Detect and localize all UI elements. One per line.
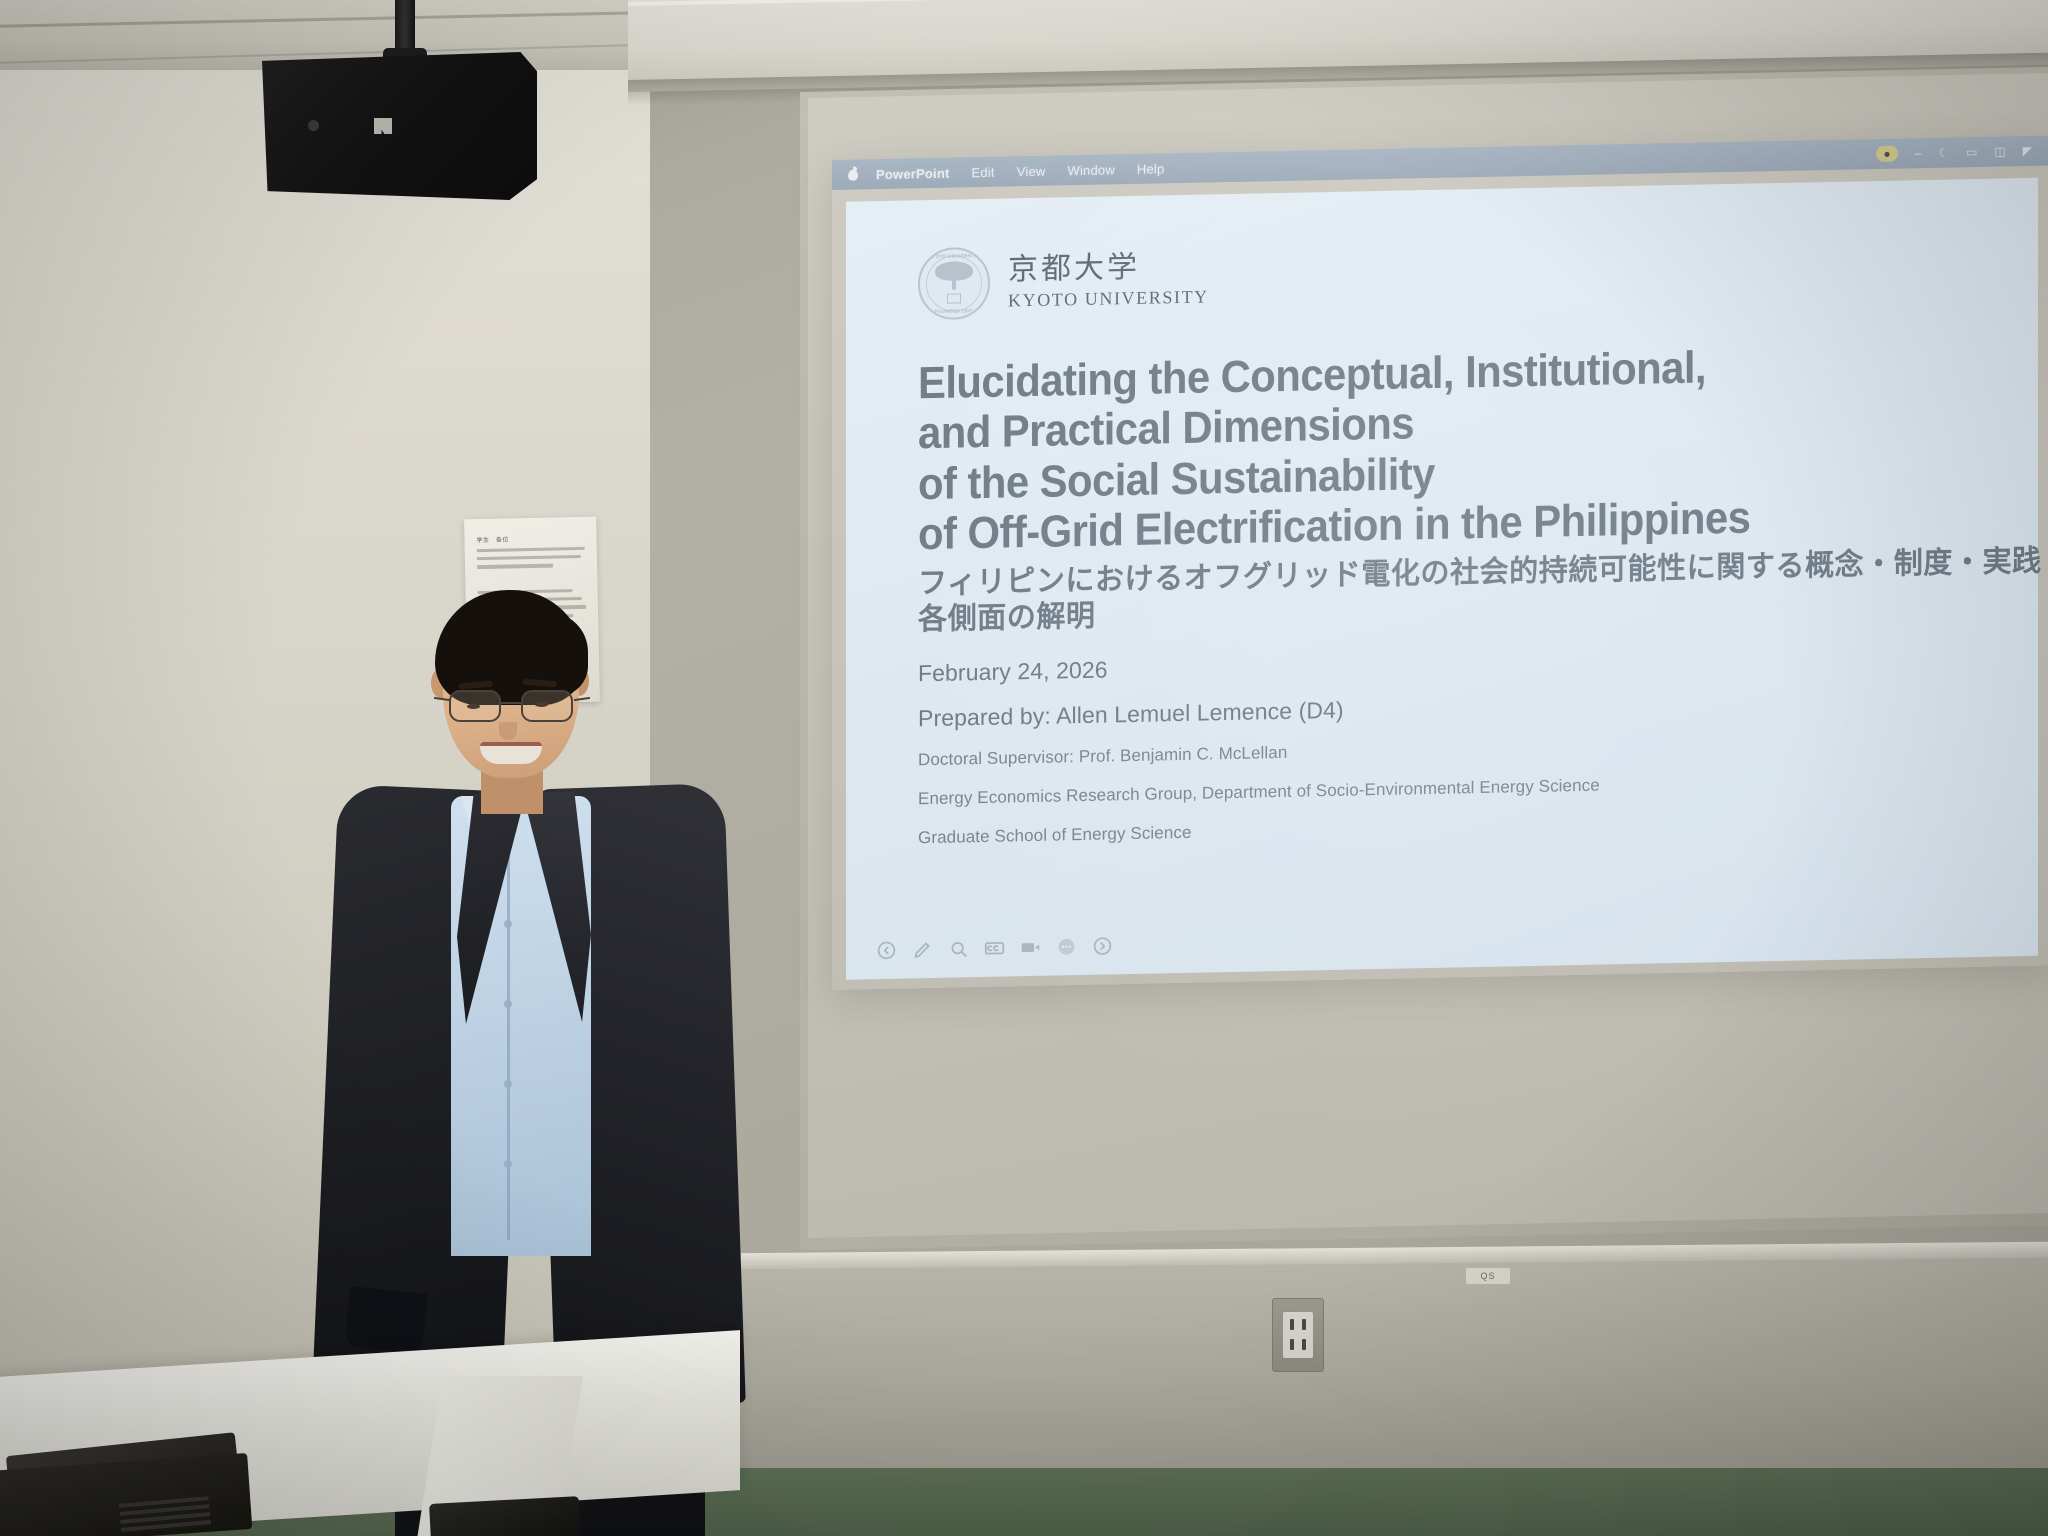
department-line: Energy Economics Research Group, Departm… xyxy=(918,769,1918,809)
doctoral-supervisor: Doctoral Supervisor: Prof. Benjamin C. M… xyxy=(918,730,1918,770)
slide-japanese-subtitle: フィリピンにおけるオフグリッド電化の社会的持続可能性に関する概念・制度・実践各側… xyxy=(918,543,2043,639)
device-on-desk[interactable] xyxy=(429,1496,581,1536)
speaker-brand-badge xyxy=(374,118,392,134)
control-center-icon[interactable]: ◫ xyxy=(1994,144,2005,158)
jacket-sleeve-cuff xyxy=(344,1286,428,1354)
brand-english-name: KYOTO UNIVERSITY xyxy=(1008,286,1209,311)
crest-top-text: KYOTO UNIVERSITY xyxy=(920,253,988,259)
presenter-toolbar xyxy=(876,935,1113,961)
graduate-school-line: Graduate School of Energy Science xyxy=(918,808,1918,848)
previous-slide-icon[interactable] xyxy=(876,940,897,961)
speaker-driver xyxy=(308,120,319,131)
presenter-view-icon[interactable] xyxy=(1020,937,1041,958)
battery-icon[interactable]: ▭ xyxy=(1966,145,1977,159)
pen-icon[interactable] xyxy=(912,939,933,960)
apple-icon[interactable] xyxy=(846,166,860,182)
closed-captions-icon[interactable] xyxy=(984,938,1005,959)
floor xyxy=(620,1468,2048,1536)
brand-japanese-name: 京都大学 xyxy=(1008,249,1209,286)
kyoto-university-crest-icon: KYOTO UNIVERSITY FOUNDED 1897 xyxy=(918,247,990,320)
menu-item-powerpoint[interactable]: PowerPoint xyxy=(876,165,950,181)
wifi-icon[interactable]: ◤ xyxy=(2023,144,2032,158)
menu-item-view[interactable]: View xyxy=(1017,163,1046,179)
prepared-by: Prepared by: Allen Lemuel Lemence (D4) xyxy=(918,685,1918,732)
minus-icon[interactable]: – xyxy=(1915,146,1922,160)
recording-badge[interactable]: ● xyxy=(1876,146,1897,162)
kyoto-university-branding: KYOTO UNIVERSITY FOUNDED 1897 京都大学 KYOTO… xyxy=(918,242,1209,320)
next-slide-icon[interactable] xyxy=(1092,935,1113,956)
do-not-disturb-moon-icon[interactable]: ☾ xyxy=(1938,146,1949,160)
lower-wall xyxy=(628,1255,2048,1470)
slide-title-block: Elucidating the Conceptual, Institutiona… xyxy=(918,335,2048,639)
magnifier-icon[interactable] xyxy=(948,938,969,959)
more-options-icon[interactable] xyxy=(1056,936,1077,957)
smile xyxy=(480,742,542,764)
slide-metadata-block: February 24, 2026 Prepared by: Allen Lem… xyxy=(918,640,1918,867)
crest-bottom-text: FOUNDED 1897 xyxy=(920,308,988,314)
poster-header: 学生 各位 xyxy=(476,534,509,544)
poster-japanese-text xyxy=(477,547,585,574)
projected-powerpoint-window: PowerPoint Edit View Window Help ● – ☾ ▭… xyxy=(832,136,2048,990)
shirt-placket xyxy=(507,840,510,1240)
classroom-photo: 学生 各位 PowerPoint Edit View Window Help xyxy=(0,0,2048,1536)
slide-canvas: KYOTO UNIVERSITY FOUNDED 1897 京都大学 KYOTO… xyxy=(846,178,2038,980)
menu-item-window[interactable]: Window xyxy=(1067,162,1114,178)
menu-item-help[interactable]: Help xyxy=(1137,161,1165,177)
menu-item-edit[interactable]: Edit xyxy=(972,164,995,179)
ceiling-speaker-icon xyxy=(262,52,537,200)
eyeglasses-icon xyxy=(449,690,575,724)
presentation-date: February 24, 2026 xyxy=(918,640,1918,687)
menu-bar-status-area: ● – ☾ ▭ ◫ ◤ xyxy=(1876,143,2038,162)
screen-brand-tag: QS xyxy=(1466,1268,1510,1284)
